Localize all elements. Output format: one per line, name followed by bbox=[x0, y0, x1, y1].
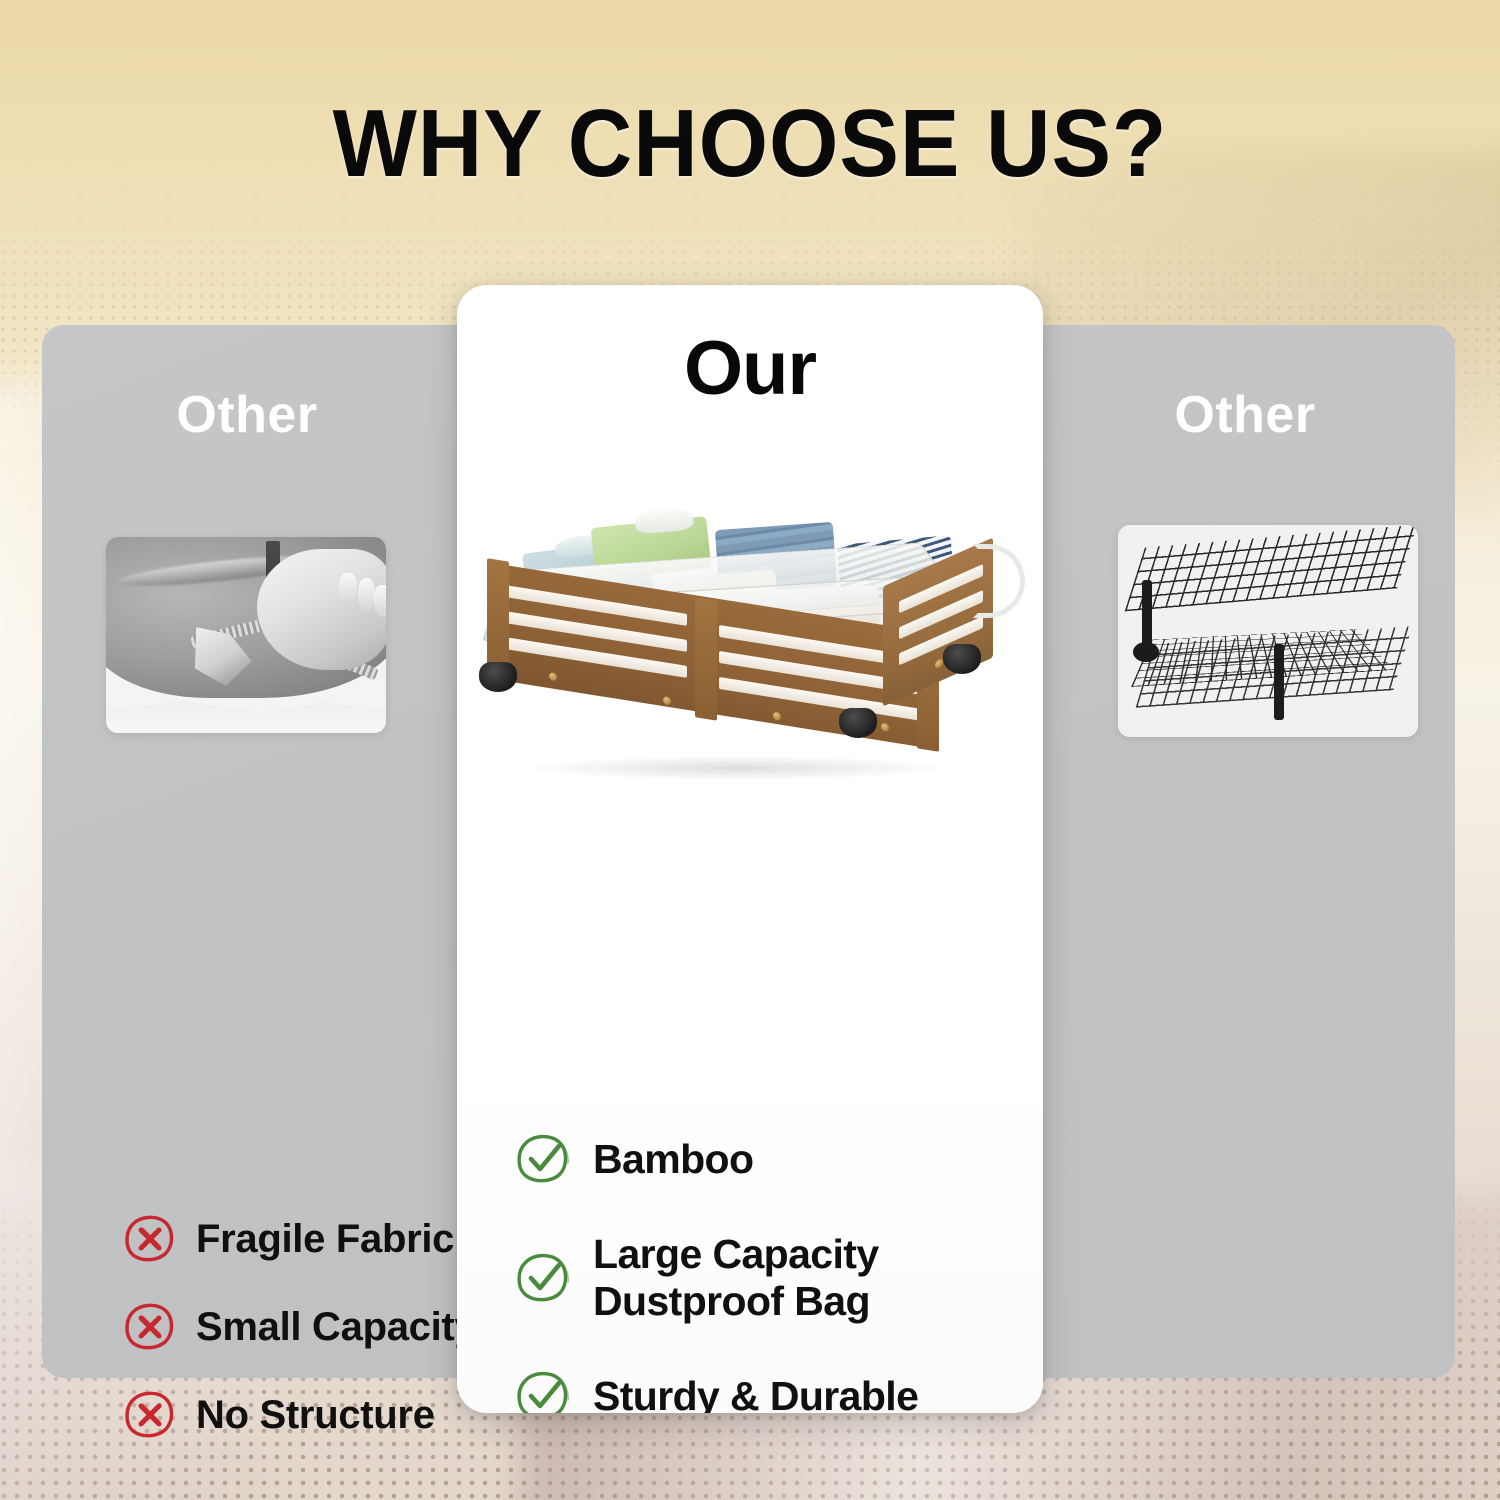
list-item-label: Sturdy & Durable bbox=[593, 1373, 918, 1413]
our-product-image bbox=[467, 470, 1033, 800]
panel-heading-left: Other bbox=[42, 385, 452, 445]
comparison-panel-our: Our bbox=[457, 285, 1043, 1413]
list-item-label: Large Capacity Dustproof Bag bbox=[593, 1231, 879, 1324]
storage-box-handle bbox=[973, 544, 1025, 618]
list-item-label: Fragile Fabric bbox=[196, 1218, 454, 1260]
other-product-photo-left bbox=[106, 537, 386, 733]
list-item: Large Capacity Dustproof Bag bbox=[515, 1231, 1015, 1324]
check-icon bbox=[515, 1250, 571, 1306]
cross-icon bbox=[124, 1213, 176, 1265]
list-item-label: Bamboo bbox=[593, 1136, 753, 1183]
list-item-label: Small Capacity bbox=[196, 1306, 476, 1348]
page-title: WHY CHOOSE US? bbox=[53, 96, 1448, 192]
list-item: Sturdy & Durable bbox=[515, 1368, 1015, 1413]
other-product-photo-right bbox=[1118, 525, 1418, 737]
cross-icon bbox=[124, 1301, 176, 1353]
infographic-canvas: WHY CHOOSE US? Other bbox=[0, 0, 1500, 1500]
check-icon bbox=[515, 1368, 571, 1413]
panel-heading-center: Our bbox=[457, 331, 1043, 407]
feature-list-center: Bamboo Large Capacity Dustproof Bag bbox=[515, 1131, 1015, 1413]
check-icon bbox=[515, 1131, 571, 1187]
list-item: Bamboo bbox=[515, 1131, 1015, 1187]
list-item-label: No Structure bbox=[196, 1394, 435, 1436]
panel-heading-right: Other bbox=[1035, 385, 1455, 445]
cross-icon bbox=[124, 1389, 176, 1441]
